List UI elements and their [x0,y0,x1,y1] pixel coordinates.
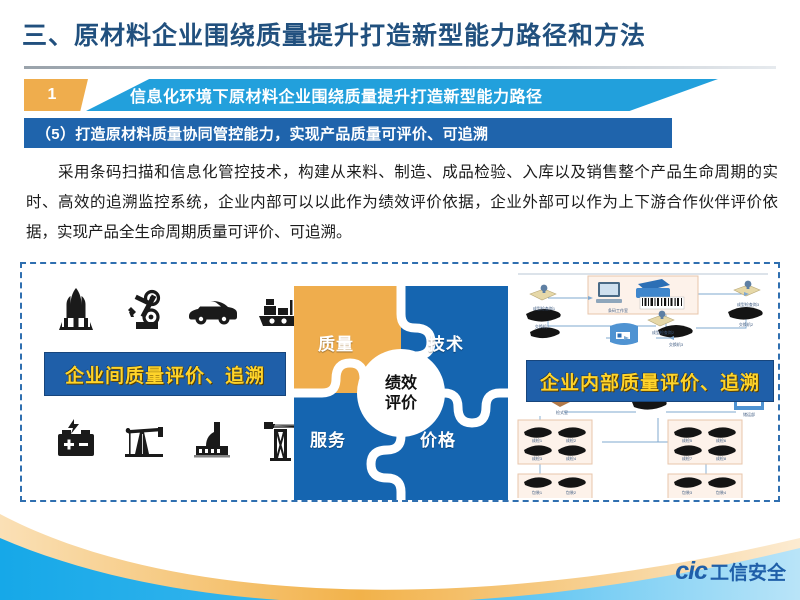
net-label-item-8: 成检8 [716,456,726,462]
sub-heading-label: （5）打造原材料质量协同管控能力，实现产品质量可评价、可追溯 [24,123,488,144]
workstation-monitor-icon [596,282,622,303]
brand-logo: cic 工信安全 [675,557,786,586]
puzzle-center-line2: 评价 [385,394,417,414]
net-label-item-6: 成检6 [716,438,726,444]
footer-wave-svg [0,508,800,600]
puzzle-label-service: 服务 [310,426,346,451]
net-label-exchange-3: 交换机3 [669,342,683,348]
body-paragraph: 采用条码扫描和信息化管控技术，构建从来料、制造、成品检验、入库以及销售整个产品生… [26,158,778,248]
footer-decoration: cic 工信安全 [0,508,800,600]
page-title: 三、原材料企业围绕质量提升打造新型能力路径和方法 [22,16,646,52]
robot-arm-icon [118,286,170,332]
net-label-item-7: 成检7 [682,456,692,462]
net-label-inspect-station: 检式室 [556,410,568,416]
right-panel-banner: 企业内部质量评价、追溯 [526,360,774,402]
car-icon [186,286,238,332]
left-panel-banner-label: 企业间质量评价、追溯 [65,361,265,388]
net-label-item-5: 成检5 [682,438,692,444]
right-panel: 成型检查岗1 交换机1 条码工作室 成型检查岗2 成型检查岗3 交换机2 交换机… [506,268,778,498]
puzzle-label-price: 价格 [420,426,456,451]
section-banner: 1 信息化环境下原材料企业围绕质量提升打造新型能力路径 [24,79,776,111]
factory-icon [186,416,238,462]
logo-text: 工信安全 [710,558,786,585]
inspect-group-left-box [518,420,592,464]
title-divider [24,66,776,69]
net-label-molding-3: 成型检查岗3 [737,302,759,308]
logo-mark: cic [675,557,707,586]
net-label-exchange-2: 交换机2 [739,322,753,328]
oil-pump-icon [118,416,170,462]
left-panel-banner: 企业间质量评价、追溯 [44,352,286,396]
section-banner-label: 信息化环境下原材料企业围绕质量提升打造新型能力路径 [130,79,543,111]
sub-heading-bar: （5）打造原材料质量协同管控能力，实现产品质量可评价、可追溯 [24,118,672,148]
left-panel-icons-bottom [50,416,306,462]
left-panel: 企业间质量评价、追溯 [26,268,302,496]
puzzle-center-label: 绩效 评价 [364,362,438,426]
net-label-exchange-1: 交换机1 [535,324,549,330]
net-label-item-3: 成检3 [532,456,542,462]
puzzle-diagram: 质量 技术 服务 价格 绩效 评价 [294,286,508,500]
net-label-pack-2: 包装2 [566,490,576,496]
net-label-molding-2: 成型检查岗2 [652,330,674,336]
net-label-pack-1: 包装1 [532,490,542,496]
net-label-pack-4: 包装4 [716,490,726,496]
left-panel-icons-top [50,286,306,332]
puzzle-label-quality: 质量 [318,330,354,355]
central-server-icon [610,323,638,345]
inspect-group-right-box [668,420,742,464]
net-label-workstation: 条码工作室 [608,308,628,314]
net-label-pack-3: 包装3 [682,490,692,496]
section-number: 1 [24,79,80,111]
right-panel-banner-label: 企业内部质量评价、追溯 [540,368,760,395]
puzzle-center-line1: 绩效 [385,374,417,394]
net-label-warehouse: 储运部 [743,412,755,418]
rocket-icon [50,286,102,332]
net-label-molding-1: 成型检查岗1 [533,306,555,312]
net-label-item-1: 成检1 [532,438,542,444]
battery-icon [50,416,102,462]
exchange-2-icon [728,307,763,320]
net-label-item-4: 成检4 [566,456,576,462]
diagram-frame: 企业间质量评价、追溯 [20,262,780,502]
puzzle-label-technology: 技术 [428,330,464,355]
net-label-item-2: 成检2 [566,438,576,444]
